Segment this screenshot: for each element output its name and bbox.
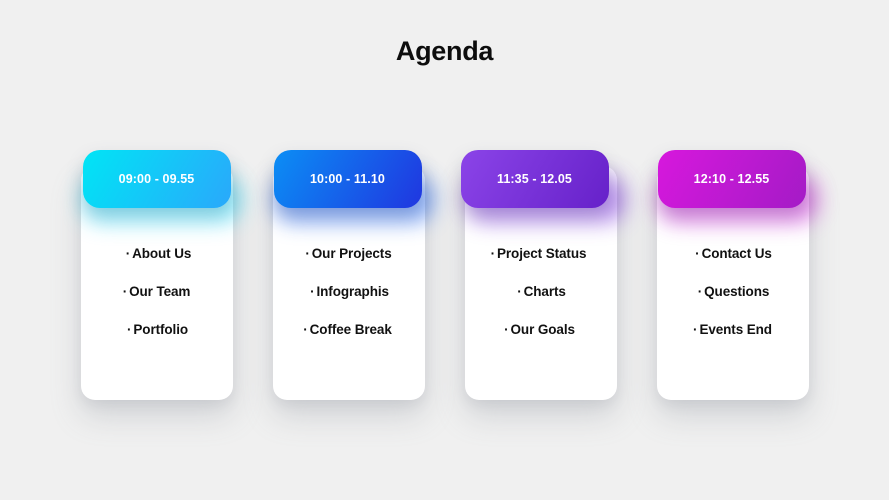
agenda-list-item-label: Events End	[699, 322, 772, 337]
agenda-list-item[interactable]: ·Questions	[658, 284, 810, 299]
bullet-icon: ·	[126, 246, 130, 261]
agenda-list-item[interactable]: ·Project Status	[463, 246, 615, 261]
bullet-icon: ·	[695, 246, 699, 261]
agenda-list-item[interactable]: ·Events End	[657, 322, 809, 337]
page-title: Agenda	[0, 36, 889, 67]
agenda-card-list: ·Contact Us·Questions·Events End	[657, 246, 809, 337]
agenda-list-item-label: Infographis	[317, 284, 389, 299]
bullet-icon: ·	[305, 246, 309, 261]
agenda-list-item[interactable]: ·Our Team	[81, 284, 233, 299]
agenda-card-time-label: 09:00 - 09.55	[119, 172, 195, 186]
agenda-card-list: ·About Us·Our Team·Portfolio	[81, 246, 233, 337]
agenda-card[interactable]: 10:00 - 11.10·Our Projects·Infographis·C…	[273, 150, 425, 400]
agenda-card-time-label: 10:00 - 11.10	[310, 172, 385, 186]
agenda-list-item[interactable]: ·Infographis	[274, 284, 426, 299]
bullet-icon: ·	[123, 284, 127, 299]
agenda-list-item-label: Our Goals	[511, 322, 575, 337]
bullet-icon: ·	[517, 284, 521, 299]
bullet-icon: ·	[303, 322, 307, 337]
agenda-list-item[interactable]: ·Charts	[466, 284, 618, 299]
agenda-card-time-label: 12:10 - 12.55	[694, 172, 770, 186]
bullet-icon: ·	[127, 322, 131, 337]
agenda-list-item-label: Our Projects	[312, 246, 392, 261]
agenda-list-item-label: Questions	[704, 284, 769, 299]
agenda-card-time-pill[interactable]: 11:35 - 12.05	[461, 150, 609, 208]
agenda-card-time-pill[interactable]: 12:10 - 12.55	[658, 150, 806, 208]
agenda-card-list: ·Our Projects·Infographis·Coffee Break	[273, 246, 425, 337]
agenda-list-item-label: Project Status	[497, 246, 586, 261]
agenda-list-item[interactable]: ·Coffee Break	[272, 322, 424, 337]
agenda-list-item-label: Our Team	[129, 284, 190, 299]
bullet-icon: ·	[693, 322, 697, 337]
agenda-list-item-label: About Us	[132, 246, 191, 261]
agenda-cards-row: 09:00 - 09.55·About Us·Our Team·Portfoli…	[0, 150, 889, 400]
bullet-icon: ·	[491, 246, 495, 261]
agenda-list-item-label: Contact Us	[702, 246, 772, 261]
agenda-card-time-pill[interactable]: 09:00 - 09.55	[83, 150, 231, 208]
bullet-icon: ·	[310, 284, 314, 299]
agenda-list-item[interactable]: ·About Us	[83, 246, 235, 261]
agenda-card-time-pill[interactable]: 10:00 - 11.10	[274, 150, 422, 208]
agenda-card-list: ·Project Status·Charts·Our Goals	[465, 246, 617, 337]
agenda-list-item-label: Portfolio	[133, 322, 188, 337]
agenda-card[interactable]: 12:10 - 12.55·Contact Us·Questions·Event…	[657, 150, 809, 400]
agenda-card[interactable]: 11:35 - 12.05·Project Status·Charts·Our …	[465, 150, 617, 400]
agenda-list-item[interactable]: ·Contact Us	[658, 246, 810, 261]
agenda-card[interactable]: 09:00 - 09.55·About Us·Our Team·Portfoli…	[81, 150, 233, 400]
bullet-icon: ·	[504, 322, 508, 337]
bullet-icon: ·	[698, 284, 702, 299]
agenda-list-item-label: Charts	[524, 284, 566, 299]
agenda-list-item-label: Coffee Break	[310, 322, 392, 337]
agenda-list-item[interactable]: ·Our Projects	[273, 246, 425, 261]
agenda-list-item[interactable]: ·Portfolio	[82, 322, 234, 337]
agenda-card-time-label: 11:35 - 12.05	[497, 172, 572, 186]
agenda-list-item[interactable]: ·Our Goals	[464, 322, 616, 337]
